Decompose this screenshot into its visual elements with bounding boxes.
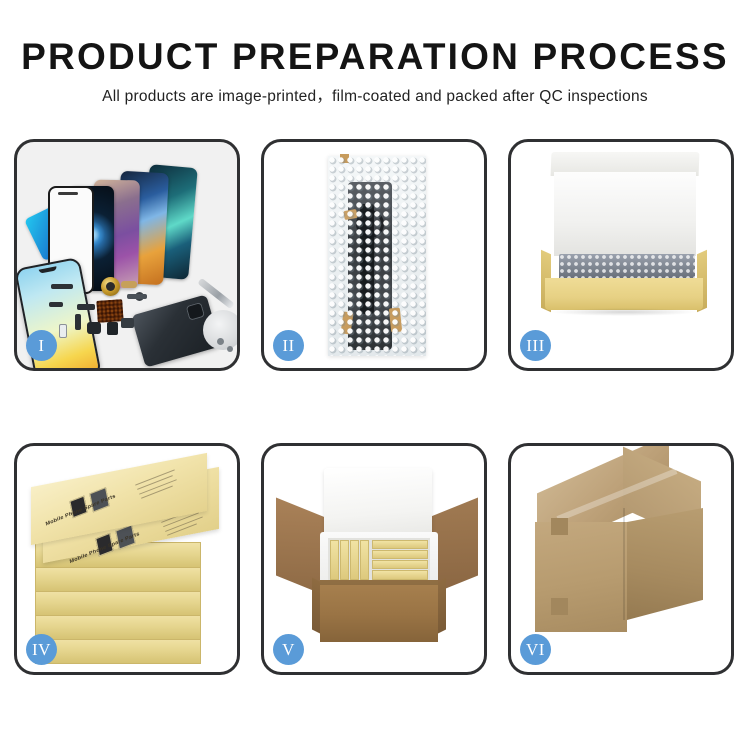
page-subtitle: All products are image-printed，film-coat… <box>0 89 750 105</box>
foam-backing <box>554 172 696 256</box>
speaker-coil-icon <box>101 277 120 296</box>
inner-box-5 <box>372 540 428 549</box>
panel-step-1: I <box>14 139 240 371</box>
step-badge-3: III <box>520 330 551 361</box>
part-gold-connector <box>121 281 137 288</box>
inner-box-3 <box>350 540 359 580</box>
inner-box-2 <box>340 540 349 580</box>
box-layer-3 <box>35 590 201 616</box>
bubble-wrapped-items <box>559 254 695 280</box>
part-bracket <box>77 304 95 310</box>
process-step-grid: I II <box>14 139 736 675</box>
panel-step-5: V <box>261 443 487 675</box>
part-bar <box>49 302 63 307</box>
part-screw-1 <box>217 338 224 345</box>
carton-tape-top <box>551 518 568 535</box>
step-badge-1: I <box>26 330 57 361</box>
bubble-texture <box>328 156 426 356</box>
panel-step-6: VI <box>508 443 734 675</box>
part-antenna-strip <box>127 294 147 299</box>
part-module <box>87 322 101 334</box>
carton-tape-bottom <box>551 598 568 615</box>
inner-box-4 <box>360 540 369 580</box>
step-badge-6: VI <box>520 634 551 665</box>
panel-step-2: II <box>261 139 487 371</box>
product-preparation-infographic: PRODUCT PREPARATION PROCESS All products… <box>0 0 750 750</box>
box-layer-2 <box>35 566 201 592</box>
part-chip <box>107 322 118 335</box>
carton-front <box>320 580 438 642</box>
part-screw-2 <box>227 346 233 352</box>
part-shield <box>121 318 134 328</box>
box-stack: Mobile Phone Spare Parts Mobile Phone Sp… <box>25 468 233 660</box>
box-layer-4 <box>35 614 201 640</box>
carton-front-face <box>535 522 627 632</box>
step-badge-2: II <box>273 330 304 361</box>
inner-box-1 <box>330 540 339 580</box>
inner-box-8 <box>372 570 428 580</box>
part-flex-strip <box>51 284 73 289</box>
header: PRODUCT PREPARATION PROCESS All products… <box>0 0 750 105</box>
yellow-box-front <box>545 278 703 310</box>
part-rail <box>75 314 81 330</box>
carton-vertical-edge <box>623 508 625 620</box>
inner-box-7 <box>372 560 428 569</box>
part-sim-tray <box>59 324 67 338</box>
foam-lid-open <box>324 468 432 542</box>
copper-mesh-icon <box>96 299 123 323</box>
step-badge-4: IV <box>26 634 57 665</box>
box-layer-5 <box>35 638 201 664</box>
carton-side-face <box>627 508 703 620</box>
inner-box-6 <box>372 550 428 559</box>
step-badge-5: V <box>273 634 304 665</box>
page-title: PRODUCT PREPARATION PROCESS <box>0 38 750 75</box>
drop-shadow <box>551 308 697 316</box>
panel-step-4: Mobile Phone Spare Parts Mobile Phone Sp… <box>14 443 240 675</box>
panel-step-3: III <box>508 139 734 371</box>
